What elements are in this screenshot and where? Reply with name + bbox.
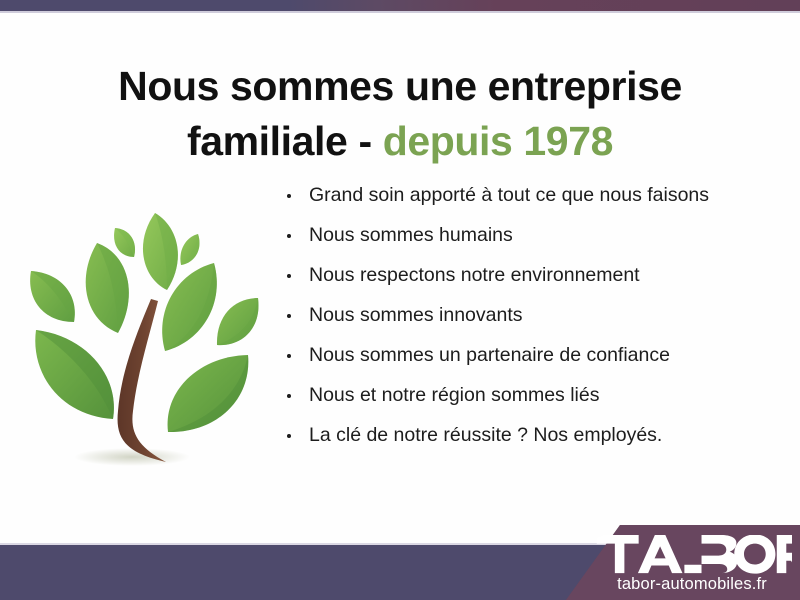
bullet-dot-icon bbox=[287, 434, 291, 438]
tabor-wordmark-icon bbox=[592, 535, 792, 575]
bullet-dot-icon bbox=[287, 354, 291, 358]
list-item-label: Nous respectons notre environnement bbox=[309, 264, 640, 286]
list-item-label: Nous sommes humains bbox=[309, 224, 513, 246]
slide-canvas: Nous sommes une entreprise familiale - d… bbox=[0, 0, 800, 600]
list-item-label: Nous sommes innovants bbox=[309, 304, 523, 326]
tree-illustration bbox=[14, 185, 276, 485]
list-item: Nous respectons notre environnement bbox=[285, 266, 785, 286]
headline-line-2: familiale - depuis 1978 bbox=[40, 114, 760, 168]
list-item: La clé de notre réussite ? Nos employés. bbox=[285, 426, 785, 446]
list-item: Nous sommes innovants bbox=[285, 306, 785, 326]
list-item: Nous sommes un partenaire de confiance bbox=[285, 346, 785, 366]
values-bullet-list: Grand soin apporté à tout ce que nous fa… bbox=[285, 186, 785, 466]
tree-shadow bbox=[74, 448, 190, 466]
bullet-dot-icon bbox=[287, 394, 291, 398]
list-item-label: Nous sommes un partenaire de confiance bbox=[309, 344, 670, 366]
tree-trunk bbox=[118, 299, 166, 462]
headline-accent-depuis: depuis 1978 bbox=[383, 118, 613, 164]
brand-url[interactable]: tabor-automobiles.fr bbox=[592, 576, 792, 593]
top-accent-hairline bbox=[0, 11, 800, 13]
headline-line-2-black: familiale - bbox=[187, 118, 383, 164]
list-item-label: Grand soin apporté à tout ce que nous fa… bbox=[309, 184, 709, 206]
list-item: Nous et notre région sommes liés bbox=[285, 386, 785, 406]
list-item-label: Nous et notre région sommes liés bbox=[309, 384, 599, 406]
bullet-dot-icon bbox=[287, 234, 291, 238]
bullet-dot-icon bbox=[287, 194, 291, 198]
bullet-dot-icon bbox=[287, 274, 291, 278]
brand-logo[interactable]: tabor-automobiles.fr bbox=[592, 535, 792, 593]
bullet-dot-icon bbox=[287, 314, 291, 318]
top-accent-bar bbox=[0, 0, 800, 11]
list-item: Grand soin apporté à tout ce que nous fa… bbox=[285, 186, 785, 206]
list-item-label: La clé de notre réussite ? Nos employés. bbox=[309, 424, 662, 446]
list-item: Nous sommes humains bbox=[285, 226, 785, 246]
headline-line-1: Nous sommes une entreprise bbox=[118, 63, 682, 109]
page-title: Nous sommes une entreprise familiale - d… bbox=[0, 59, 800, 167]
